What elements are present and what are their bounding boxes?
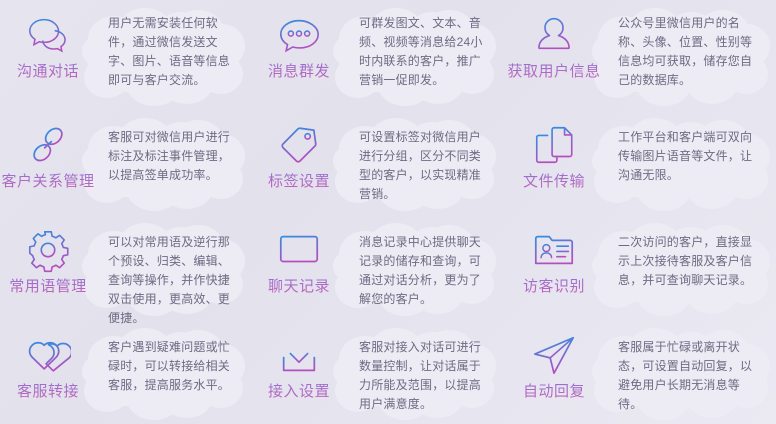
gear-icon	[25, 227, 71, 273]
feature-card-visitor-id[interactable]: 访客识别 二次访问的客户，直接显示上次接待客服及客户信息，并可查询聊天记录。	[502, 215, 776, 320]
features-grid: 沟通对话 用户无需安装任何软件，通过微信发送文字、图片、语音等信息即可与客户交流…	[0, 0, 776, 424]
bubble-wrap: 可以对常用语及逆行那个预设、归类、编辑、查询等操作，并作快捷双击使用，更高效、更…	[96, 215, 251, 320]
download-arrow-icon	[276, 332, 322, 378]
user-profile-icon	[531, 12, 577, 58]
icon-block: 沟通对话	[0, 0, 96, 81]
icon-block: 获取用户信息	[502, 0, 606, 81]
icon-block: 自动回复	[502, 320, 606, 401]
feature-label: 消息群发	[268, 63, 330, 81]
feature-label: 接入设置	[268, 383, 330, 401]
icon-block: 常用语管理	[0, 215, 96, 296]
bubble-wrap: 可群发图文、文本、音频、视频等消息给24小时内联系的客户，推广营销一促即发。	[347, 0, 502, 110]
bubble-wrap: 公众号里微信用户的名称、头像、位置、性别等信息均可获取，储存您自己的数据库。	[606, 0, 776, 110]
feature-card-crm[interactable]: 客户关系管理 客服可对微信用户进行标注及标注事件管理，以提高签单成功率。	[0, 110, 251, 215]
double-heart-icon	[25, 332, 71, 378]
paper-plane-icon	[531, 332, 577, 378]
bubble-wrap: 客服对接入对话可进行数量控制，让对话属于力所能及范围，以提高用户满意度。	[347, 320, 502, 424]
feature-description: 消息记录中心提供聊天记录的储存和查询，可通过对话分析，更为了解您的客户。	[347, 215, 502, 319]
file-transfer-icon	[531, 122, 577, 168]
bubble-wrap: 客服可对微信用户进行标注及标注事件管理，以提高签单成功率。	[96, 110, 251, 215]
feature-card-file-transfer[interactable]: 文件传输 工作平台和客户端可双向传输图片语音等文件，让沟通无限。	[502, 110, 776, 215]
feature-description: 客服属于忙碌或离开状态，可设置自动回复，以避免用户长期无消息等待。	[606, 320, 776, 424]
feature-label: 聊天记录	[268, 278, 330, 296]
feature-label: 客户关系管理	[1, 173, 94, 191]
feature-card-phrases[interactable]: 常用语管理 可以对常用语及逆行那个预设、归类、编辑、查询等操作，并作快捷双击使用…	[0, 215, 251, 320]
bubble-wrap: 用户无需安装任何软件，通过微信发送文字、图片、语音等信息即可与客户交流。	[96, 0, 251, 110]
feature-description: 公众号里微信用户的名称、头像、位置、性别等信息均可获取，储存您自己的数据库。	[606, 0, 776, 100]
bubble-wrap: 客户遇到疑难问题或忙碌时，可以转接给相关客服，提高服务水平。	[96, 320, 251, 424]
icon-block: 客户关系管理	[0, 110, 96, 191]
icon-block: 文件传输	[502, 110, 606, 191]
feature-card-chat-history[interactable]: 聊天记录 消息记录中心提供聊天记录的储存和查询，可通过对话分析，更为了解您的客户…	[251, 215, 502, 320]
chat-bubbles-icon	[25, 12, 71, 58]
feature-card-user-info[interactable]: 获取用户信息 公众号里微信用户的名称、头像、位置、性别等信息均可获取，储存您自己…	[502, 0, 776, 110]
feature-description: 客户遇到疑难问题或忙碌时，可以转接给相关客服，提高服务水平。	[96, 320, 251, 405]
feature-label: 获取用户信息	[507, 63, 600, 81]
bubble-wrap: 工作平台和客户端可双向传输图片语音等文件，让沟通无限。	[606, 110, 776, 215]
feature-description: 客服对接入对话可进行数量控制，让对话属于力所能及范围，以提高用户满意度。	[347, 320, 502, 424]
feature-description: 工作平台和客户端可双向传输图片语音等文件，让沟通无限。	[606, 110, 776, 195]
visitor-id-card-icon	[531, 227, 577, 273]
feature-description: 二次访问的客户，直接显示上次接待客服及客户信息，并可查询聊天记录。	[606, 215, 776, 300]
bubble-wrap: 客服属于忙碌或离开状态，可设置自动回复，以避免用户长期无消息等待。	[606, 320, 776, 424]
tag-icon	[276, 122, 322, 168]
feature-label: 自动回复	[523, 383, 585, 401]
feature-label: 沟通对话	[17, 63, 79, 81]
icon-block: 客服转接	[0, 320, 96, 401]
icon-block: 接入设置	[251, 320, 347, 401]
bubble-wrap: 可设置标签对微信用户进行分组，区分不同类型的客户，以实现精准营销。	[347, 110, 502, 215]
feature-label: 访客识别	[523, 278, 585, 296]
feature-description: 客服可对微信用户进行标注及标注事件管理，以提高签单成功率。	[96, 110, 251, 195]
feature-card-auto-reply[interactable]: 自动回复 客服属于忙碌或离开状态，可设置自动回复，以避免用户长期无消息等待。	[502, 320, 776, 424]
open-book-icon	[276, 227, 322, 273]
feature-label: 标签设置	[268, 173, 330, 191]
feature-card-broadcast[interactable]: 消息群发 可群发图文、文本、音频、视频等消息给24小时内联系的客户，推广营销一促…	[251, 0, 502, 110]
bubble-wrap: 二次访问的客户，直接显示上次接待客服及客户信息，并可查询聊天记录。	[606, 215, 776, 320]
icon-block: 访客识别	[502, 215, 606, 296]
bubble-wrap: 消息记录中心提供聊天记录的储存和查询，可通过对话分析，更为了解您的客户。	[347, 215, 502, 320]
feature-description: 可群发图文、文本、音频、视频等消息给24小时内联系的客户，推广营销一促即发。	[347, 0, 502, 100]
feature-description: 用户无需安装任何软件，通过微信发送文字、图片、语音等信息即可与客户交流。	[96, 0, 251, 100]
feature-label: 文件传输	[523, 173, 585, 191]
chain-link-icon	[25, 122, 71, 168]
feature-description: 可设置标签对微信用户进行分组，区分不同类型的客户，以实现精准营销。	[347, 110, 502, 214]
feature-card-access-settings[interactable]: 接入设置 客服对接入对话可进行数量控制，让对话属于力所能及范围，以提高用户满意度…	[251, 320, 502, 424]
feature-card-tags[interactable]: 标签设置 可设置标签对微信用户进行分组，区分不同类型的客户，以实现精准营销。	[251, 110, 502, 215]
icon-block: 标签设置	[251, 110, 347, 191]
feature-card-transfer[interactable]: 客服转接 客户遇到疑难问题或忙碌时，可以转接给相关客服，提高服务水平。	[0, 320, 251, 424]
message-broadcast-icon	[276, 12, 322, 58]
icon-block: 聊天记录	[251, 215, 347, 296]
icon-block: 消息群发	[251, 0, 347, 81]
feature-label: 客服转接	[17, 383, 79, 401]
feature-card-chat[interactable]: 沟通对话 用户无需安装任何软件，通过微信发送文字、图片、语音等信息即可与客户交流…	[0, 0, 251, 110]
feature-label: 常用语管理	[9, 278, 87, 296]
